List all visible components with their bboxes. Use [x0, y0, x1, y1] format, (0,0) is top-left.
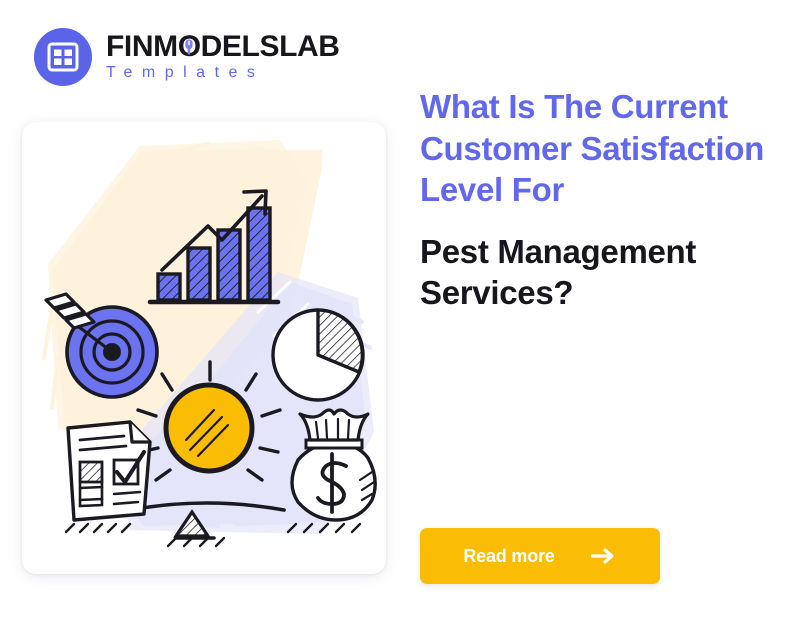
- document-checklist-icon: [66, 422, 150, 532]
- brand-name-post: DELSLAB: [201, 32, 340, 63]
- headline-block: What Is The Current Customer Satisfactio…: [420, 86, 772, 314]
- brand-text: FINM O DELSLAB Templates: [106, 32, 340, 83]
- brand-tagline: Templates: [106, 63, 340, 82]
- page-subtitle: Pest Management Services?: [420, 231, 772, 314]
- read-more-button[interactable]: Read more: [420, 528, 660, 584]
- page-title: What Is The Current Customer Satisfactio…: [420, 86, 772, 211]
- pie-chart-icon: [273, 310, 363, 400]
- illustration-card: [22, 122, 386, 574]
- brand-mark: [34, 28, 92, 86]
- brand-logo[interactable]: FINM O DELSLAB Templates: [34, 28, 340, 86]
- brand-name-o-slot: O: [178, 32, 201, 63]
- promo-banner: FINM O DELSLAB Templates: [0, 0, 800, 618]
- read-more-label: Read more: [463, 546, 554, 567]
- arrow-right-icon: [591, 548, 617, 564]
- grid-icon: [47, 42, 79, 72]
- power-pin-icon: [185, 38, 194, 55]
- brand-name: FINM O DELSLAB: [106, 32, 340, 63]
- brand-name-pre: FINM: [106, 32, 178, 63]
- illustration: [22, 122, 386, 574]
